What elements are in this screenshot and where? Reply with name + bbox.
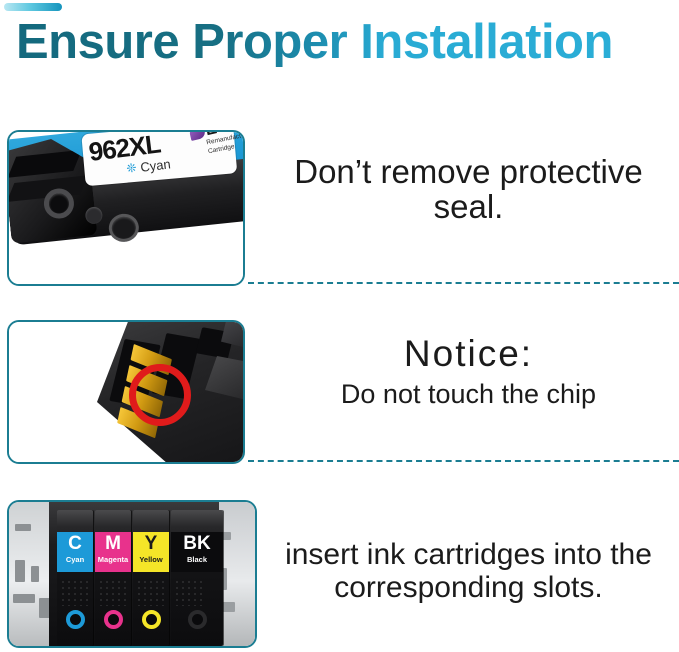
cartridge-ink-port (66, 610, 85, 629)
notice-heading: Notice: (258, 335, 679, 374)
cartridge-color-band: BK Black (171, 532, 223, 572)
page-title: Ensure Proper Installation (16, 18, 613, 67)
chip-closeup-photo (9, 322, 243, 462)
step-seal-caption: Don’t remove protective seal. (258, 155, 679, 225)
cartridge-letter: BK (171, 534, 223, 553)
cartridge-bay-photo-frame: C Cyan M Magenta Y Yellow (7, 500, 257, 648)
cartridge-color-band: M Magenta (95, 532, 131, 572)
cartridge-letter: M (95, 534, 131, 553)
cartridge-texture (175, 580, 203, 606)
cartridge-slot-yellow: Y Yellow (133, 510, 169, 646)
cartridge-ink-port (104, 610, 123, 629)
divider-1 (248, 282, 679, 284)
cartridge-slot-magenta: M Magenta (95, 510, 131, 646)
notice-subtext: Do not touch the chip (258, 380, 679, 410)
cartridge-color-band: C Cyan (57, 532, 93, 572)
cartridge-ink-port (142, 610, 161, 629)
cartridge-letter: Y (133, 534, 169, 553)
four-cartridges-photo: C Cyan M Magenta Y Yellow (9, 502, 255, 646)
cartridge-color-name: Black (171, 556, 223, 564)
brand-logo-icon (189, 130, 207, 141)
cartridge-color-name: Yellow (133, 556, 169, 564)
cyan-cartridge-photo: 962XL ❊ Cyan ESTON Remanufactured Ink Ca… (9, 132, 243, 284)
cartridge-texture (137, 580, 165, 606)
cartridge-texture (99, 580, 127, 606)
snowflake-icon: ❊ (126, 161, 138, 176)
step-seal-row: 962XL ❊ Cyan ESTON Remanufactured Ink Ca… (0, 130, 679, 290)
step-slots-row: C Cyan M Magenta Y Yellow (0, 500, 679, 652)
cartridge-body: 962XL ❊ Cyan ESTON Remanufactured Ink Ca… (7, 130, 245, 259)
cartridge-photo-frame: 962XL ❊ Cyan ESTON Remanufactured Ink Ca… (7, 130, 245, 286)
cartridge-color-name: Magenta (95, 556, 131, 564)
cartridge-color-text: Cyan (140, 156, 172, 175)
chip-photo-frame (7, 320, 245, 464)
cartridge-letter: C (57, 534, 93, 553)
divider-2 (248, 460, 679, 462)
cartridge-color-band: Y Yellow (133, 532, 169, 572)
cartridge-slot-cyan: C Cyan (57, 510, 93, 646)
cartridge-color-name: Cyan (57, 556, 93, 564)
cartridge-ink-port (188, 610, 207, 629)
cartridge-notch-upper (8, 150, 82, 178)
prohibition-circle-icon (129, 364, 191, 426)
cartridge-slot-black: BK Black (171, 510, 223, 646)
accent-bar (4, 3, 62, 11)
step-chip-row: Notice: Do not touch the chip (0, 320, 679, 470)
cartridge-texture (61, 580, 89, 606)
step-slots-caption: insert ink cartridges into the correspon… (258, 538, 679, 604)
